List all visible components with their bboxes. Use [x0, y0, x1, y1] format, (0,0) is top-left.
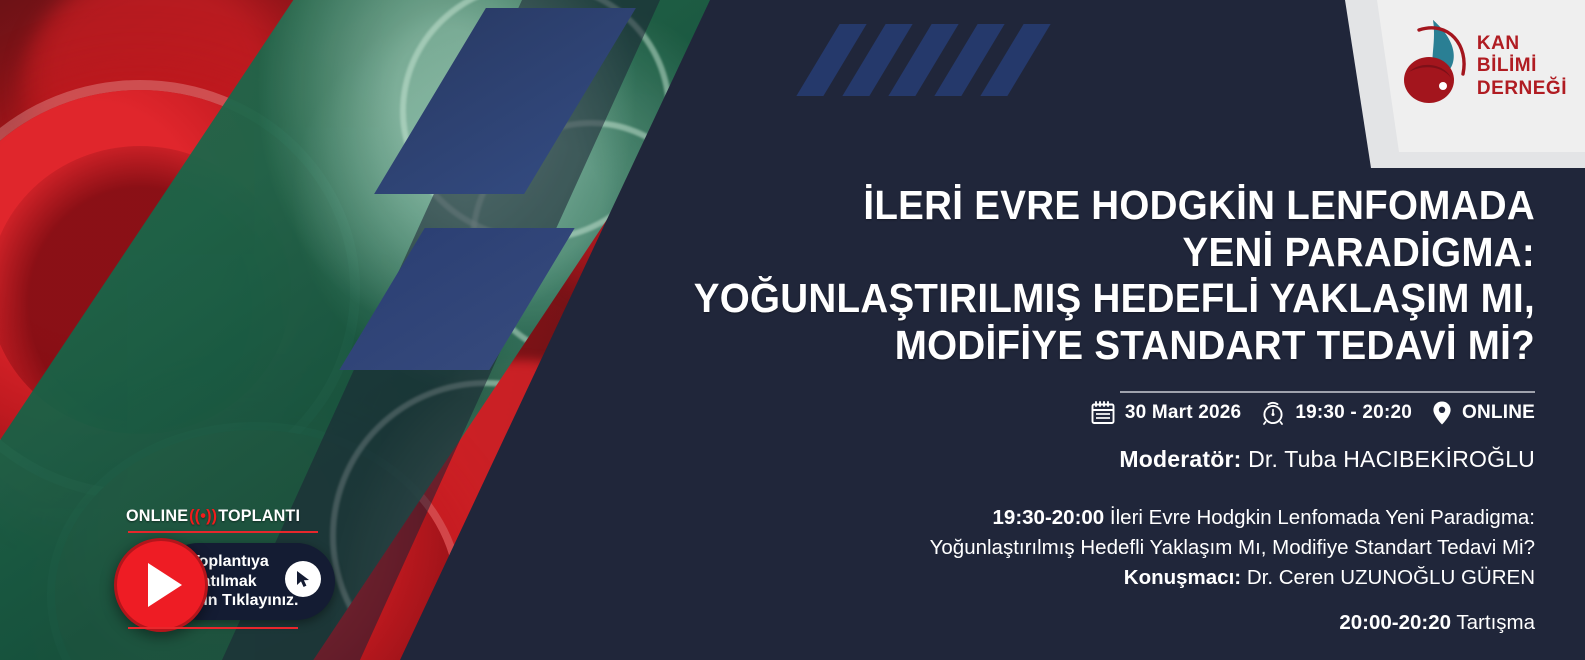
moderator-name: Dr. Tuba HACIBEKİROĞLU — [1248, 446, 1535, 472]
broadcast-wave-icon: ((•)) — [189, 506, 217, 526]
session-block: 19:30-20:00 İleri Evre Hodgkin Lenfomada… — [535, 503, 1535, 593]
calendar-icon — [1090, 400, 1116, 426]
page-title: İLERİ EVRE HODGKİN LENFOMADA YENİ PARADİ… — [595, 182, 1535, 369]
session-topic-line-1: İleri Evre Hodgkin Lenfomada Yeni Paradi… — [1110, 506, 1535, 529]
alarm-clock-icon — [1260, 400, 1286, 426]
discussion-time: 20:00-20:20 — [1339, 611, 1451, 634]
session-first-line: 19:30-20:00 İleri Evre Hodgkin Lenfomada… — [535, 503, 1535, 533]
event-time: 19:30 - 20:20 — [1295, 402, 1412, 424]
session-topic-line-2: Yoğunlaştırılmış Hedefli Yaklaşım Mı, Mo… — [535, 533, 1535, 563]
speaker-label: Konuşmacı: — [1124, 566, 1241, 589]
speaker-line: Konuşmacı: Dr. Ceren UZUNOĞLU GÜREN — [535, 563, 1535, 593]
event-date: 30 Mart 2026 — [1125, 402, 1241, 424]
badge-heading-left: ONLINE — [126, 506, 188, 526]
event-location: ONLINE — [1462, 402, 1535, 424]
discussion-label: Tartışma — [1456, 611, 1535, 634]
location-pin-icon — [1431, 400, 1453, 426]
moderator-label: Moderatör: — [1119, 446, 1241, 472]
title-line-2: YENİ PARADİGMA: — [595, 229, 1535, 276]
webinar-banner: KAN BİLİMİ DERNEĞİ İLERİ EVRE HODGKİN LE… — [0, 0, 1585, 660]
badge-heading: ONLINE((•))TOPLANTI — [126, 506, 300, 526]
badge-heading-right: TOPLANTI — [218, 506, 300, 526]
title-line-4: MODİFİYE STANDART TEDAVİ Mİ? — [595, 322, 1535, 369]
discussion-line: 20:00-20:20 Tartışma — [535, 611, 1535, 635]
mouse-cursor-icon — [285, 561, 321, 597]
join-meeting-badge[interactable]: ONLINE((•))TOPLANTI Toplantıya Katılmak … — [104, 506, 334, 634]
badge-divider-top — [128, 531, 318, 533]
play-triangle — [148, 563, 182, 607]
speaker-name: Dr. Ceren UZUNOĞLU GÜREN — [1247, 566, 1535, 589]
moderator-line: Moderatör: Dr. Tuba HACIBEKİROĞLU — [535, 446, 1535, 473]
session-time: 19:30-20:00 — [993, 506, 1105, 529]
title-line-3: YOĞUNLAŞTIRILMIŞ HEDEFLİ YAKLAŞIM MI, — [595, 275, 1535, 322]
title-line-1: İLERİ EVRE HODGKİN LENFOMADA — [595, 182, 1535, 229]
content-column: İLERİ EVRE HODGKİN LENFOMADA YENİ PARADİ… — [535, 0, 1535, 660]
play-button-icon[interactable] — [114, 538, 208, 632]
event-meta: 30 Mart 2026 19:30 - 20:20 ONLINE — [535, 400, 1535, 426]
badge-divider-bottom — [128, 627, 298, 629]
divider — [1120, 391, 1535, 393]
